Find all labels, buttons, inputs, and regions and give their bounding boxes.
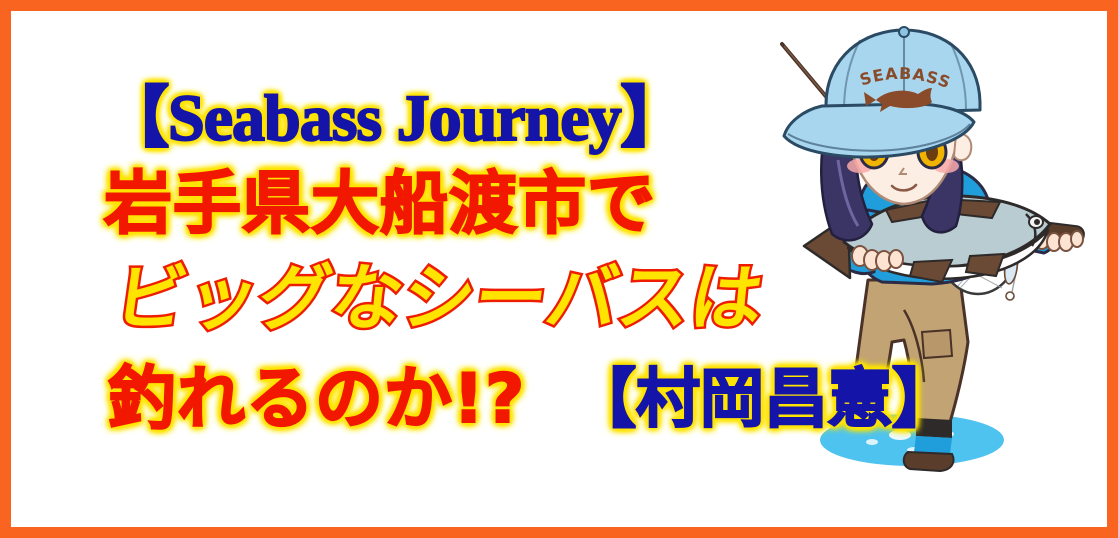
title-line-series: 【Seabass Journey】 — [103, 86, 686, 152]
title-line-author: 【村岡昌憲】 — [572, 368, 956, 432]
seabass-cap: SEABASS — [784, 27, 980, 157]
title-line-question: 釣れるのか!? — [108, 366, 525, 434]
title-line-location-text: 岩手県大船渡市で — [104, 165, 656, 244]
title-line-series-text: 【Seabass Journey】 — [103, 82, 686, 155]
title-line-highlight-text: ビッグなシーバスは — [109, 256, 768, 340]
thumbnail-canvas: SEABASS 【Seabass Journey】 岩手県大船渡市で ビッグなシ… — [0, 0, 1118, 538]
title-line-highlight: ビッグなシーバスは — [110, 262, 767, 334]
title-line-location: 岩手県大船渡市で — [104, 171, 656, 239]
title-line-author-text: 【村岡昌憲】 — [572, 363, 956, 437]
title-line-question-text: 釣れるのか!? — [108, 360, 525, 439]
